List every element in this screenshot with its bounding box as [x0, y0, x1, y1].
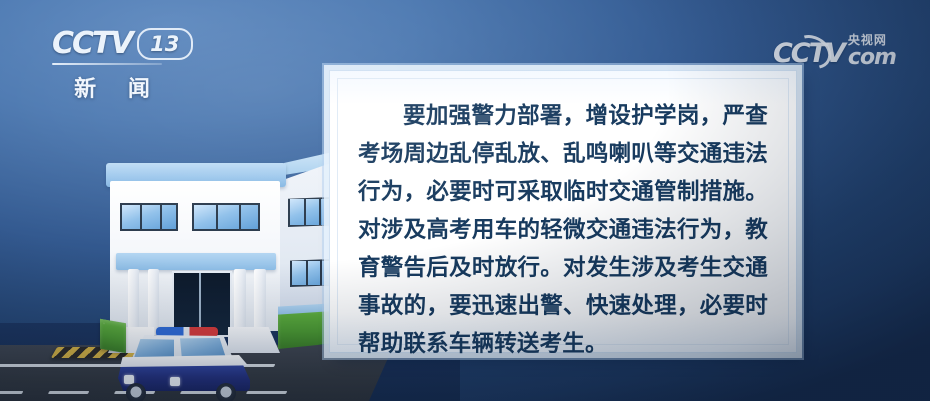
entrance-pillar — [148, 269, 159, 335]
entrance-canopy — [116, 253, 276, 270]
entrance-pillar — [128, 269, 139, 335]
watermark-domain-label: com — [848, 47, 896, 69]
broadcast-screen: CCTV 13 新 闻 CCTV 央视网 com 要加强警力部署，增设护学岗，严… — [0, 0, 930, 401]
caption-body-text: 要加强警力部署，增设护学岗，严查考场周边乱停乱放、乱鸣喇叭等交通违法行为，必要时… — [358, 97, 768, 363]
car-headlight — [170, 377, 180, 386]
entrance-pillar — [254, 269, 266, 335]
logo-underline — [52, 63, 162, 65]
car-wheel — [126, 383, 146, 401]
police-car — [112, 327, 258, 401]
entrance-pillar — [234, 269, 246, 335]
building-window — [290, 259, 332, 287]
building-window — [288, 197, 332, 227]
caption-panel: 要加强警力部署，增设护学岗，严查考场周边乱停乱放、乱鸣喇叭等交通违法行为，必要时… — [329, 70, 797, 353]
caption-panel-inner: 要加强警力部署，增设护学岗，严查考场周边乱停乱放、乱鸣喇叭等交通违法行为，必要时… — [337, 78, 789, 345]
cctv13-channel-logo: CCTV 13 新 闻 — [52, 28, 192, 100]
car-wheel — [216, 383, 236, 401]
road-lane-marking — [48, 391, 89, 394]
car-windshield — [134, 339, 174, 358]
watermark-right-block: 央视网 com — [848, 34, 896, 69]
road-lane-marking — [0, 391, 23, 394]
channel-name-label: 新 闻 — [52, 71, 172, 103]
building-window — [120, 203, 178, 231]
door-divider — [199, 273, 201, 331]
cctv-wordmark: CCTV — [52, 29, 132, 59]
building-window — [192, 203, 260, 231]
cctv-com-watermark: CCTV 央视网 com — [773, 34, 896, 69]
channel-number-badge: 13 — [137, 28, 193, 60]
car-side-window — [180, 338, 226, 358]
logo-row: CCTV 13 — [52, 28, 192, 60]
